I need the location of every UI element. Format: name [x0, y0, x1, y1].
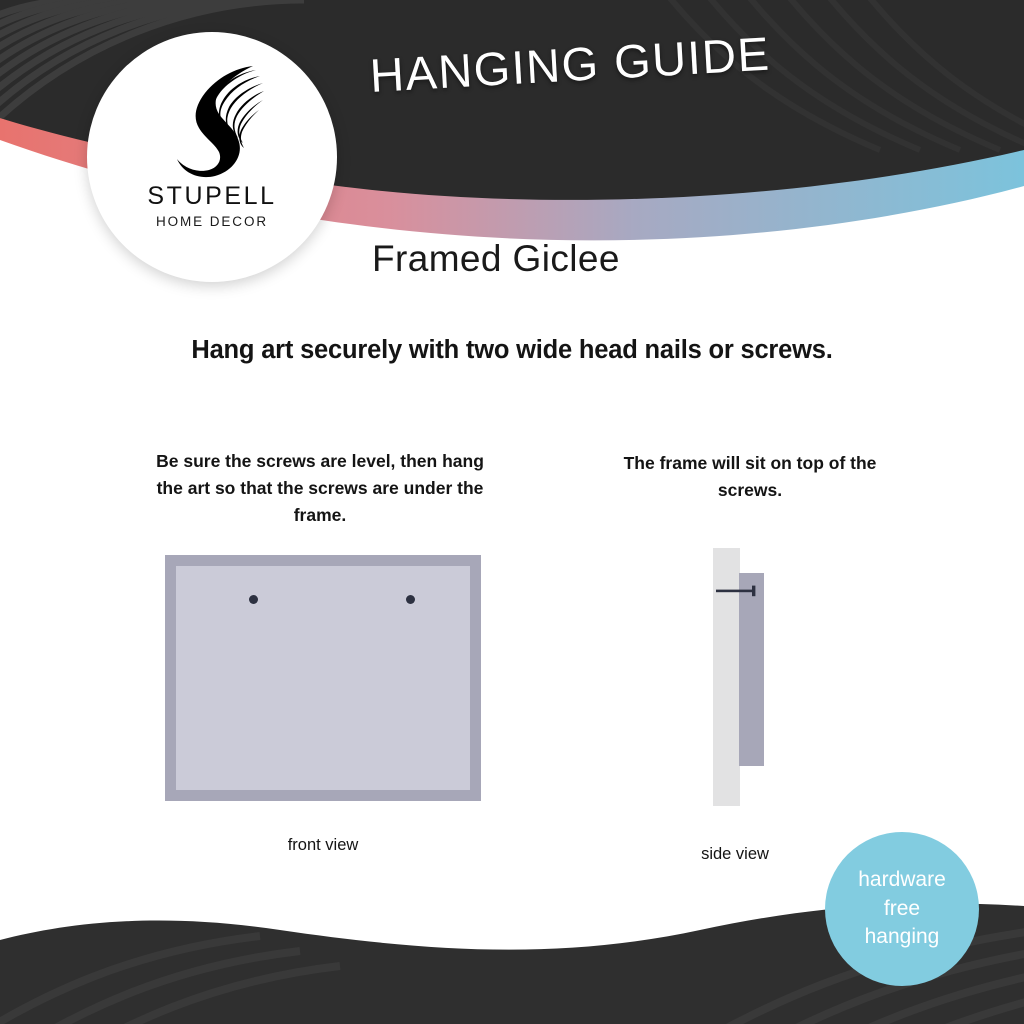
side-view-frame	[739, 573, 764, 766]
brand-logo-badge: STUPELL HOME DECOR	[87, 32, 337, 282]
screw-dot-right-icon	[406, 595, 415, 604]
screw-icon	[716, 585, 760, 597]
swoosh-s-icon	[157, 60, 267, 178]
front-view-diagram	[165, 555, 481, 801]
hardware-free-hanging-badge: hardware free hanging	[825, 832, 979, 986]
front-view-label: front view	[165, 836, 481, 855]
product-type-label: Framed Giclee	[372, 238, 620, 280]
screw-dot-left-icon	[249, 595, 258, 604]
page-title: HANGING GUIDE	[368, 26, 771, 103]
badge-line-1: hardware	[858, 866, 946, 895]
badge-line-2: free	[884, 895, 920, 924]
brand-tagline: HOME DECOR	[156, 214, 268, 229]
main-instruction-text: Hang art securely with two wide head nai…	[0, 336, 1024, 365]
side-view-diagram	[700, 540, 810, 820]
brand-name: STUPELL	[147, 182, 276, 211]
front-view-caption: Be sure the screws are level, then hang …	[150, 448, 490, 529]
front-view-mat	[176, 566, 470, 790]
side-view-caption: The frame will sit on top of the screws.	[600, 450, 900, 504]
side-view-label: side view	[660, 845, 810, 864]
badge-line-3: hanging	[865, 923, 940, 952]
hanging-guide-page: STUPELL HOME DECOR HANGING GUIDE Framed …	[0, 0, 1024, 1024]
